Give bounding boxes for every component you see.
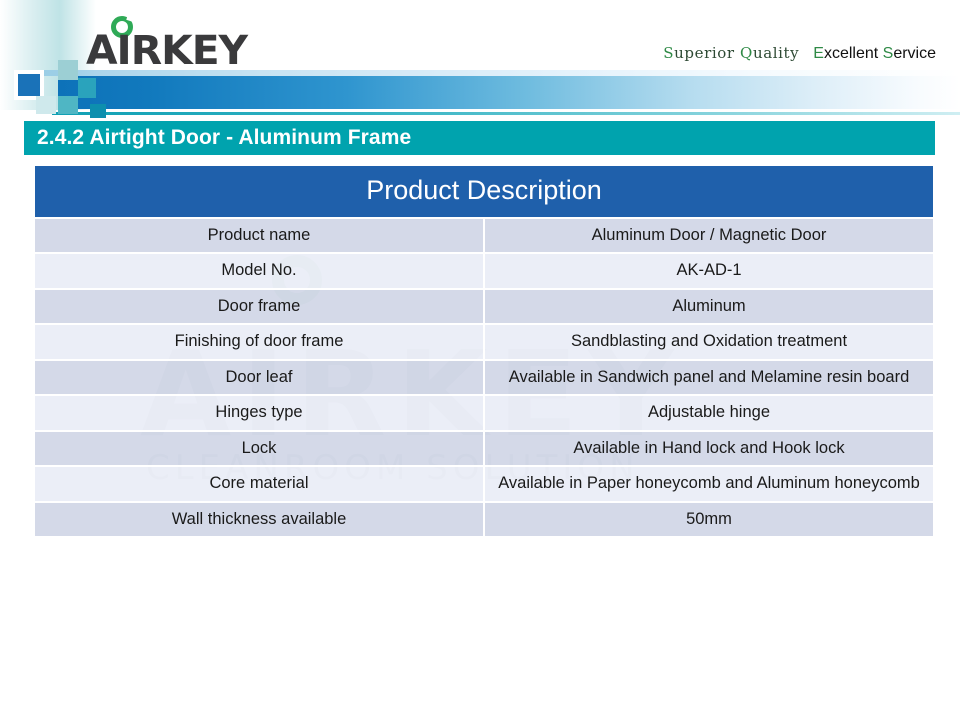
header-gradient-ribbon [58, 76, 960, 109]
table-header-row: Product Description [35, 166, 933, 218]
table-row: Door leaf Available in Sandwich panel an… [35, 360, 933, 395]
header-underline [52, 112, 960, 115]
row-value: Adjustable hinge [484, 395, 933, 430]
tagline-superior-quality: Superior Quality [663, 44, 799, 62]
table-row: Door frame Aluminum [35, 289, 933, 324]
table-body: Product name Aluminum Door / Magnetic Do… [35, 218, 933, 536]
row-value: Aluminum [484, 289, 933, 324]
table-row: Wall thickness available 50mm [35, 502, 933, 536]
decorative-square-cyan [78, 78, 96, 98]
row-label: Model No. [35, 253, 484, 288]
row-value: Available in Hand lock and Hook lock [484, 431, 933, 466]
row-label: Core material [35, 466, 484, 501]
table-row: Lock Available in Hand lock and Hook loc… [35, 431, 933, 466]
row-value: Available in Sandwich panel and Melamine… [484, 360, 933, 395]
table-row: Hinges type Adjustable hinge [35, 395, 933, 430]
table-row: Core material Available in Paper honeyco… [35, 466, 933, 501]
table-row: Model No. AK-AD-1 [35, 253, 933, 288]
table-header-title: Product Description [35, 166, 933, 218]
row-value: 50mm [484, 502, 933, 536]
row-value: Available in Paper honeycomb and Aluminu… [484, 466, 933, 501]
row-label: Lock [35, 431, 484, 466]
row-label: Hinges type [35, 395, 484, 430]
decorative-square-pale [36, 96, 56, 114]
row-label: Door leaf [35, 360, 484, 395]
tagline-excellent-service: Excellent Service [813, 45, 936, 62]
section-title-bar: 2.4.2 Airtight Door - Aluminum Frame [24, 121, 935, 155]
row-label: Wall thickness available [35, 502, 484, 536]
row-label: Product name [35, 218, 484, 253]
row-label: Door frame [35, 289, 484, 324]
product-description-table: Product Description Product name Aluminu… [35, 166, 933, 536]
page-title: 2.4.2 Airtight Door - Aluminum Frame [24, 126, 411, 150]
decorative-square-mint [58, 60, 78, 80]
row-value: AK-AD-1 [484, 253, 933, 288]
brand-logo-text: AIRKEY [86, 28, 247, 74]
table-row: Product name Aluminum Door / Magnetic Do… [35, 218, 933, 253]
brand-logo: AIRKEY [86, 10, 256, 70]
decorative-square-blue [18, 74, 40, 96]
brand-tagline: Superior QualityExcellent Service [663, 44, 936, 63]
table-row: Finishing of door frame Sandblasting and… [35, 324, 933, 359]
row-value: Sandblasting and Oxidation treatment [484, 324, 933, 359]
decorative-square-teal [58, 96, 78, 114]
row-label: Finishing of door frame [35, 324, 484, 359]
page-header: AIRKEY Superior QualityExcellent Service [0, 0, 960, 118]
decorative-square-deep-teal [90, 104, 106, 118]
row-value: Aluminum Door / Magnetic Door [484, 218, 933, 253]
